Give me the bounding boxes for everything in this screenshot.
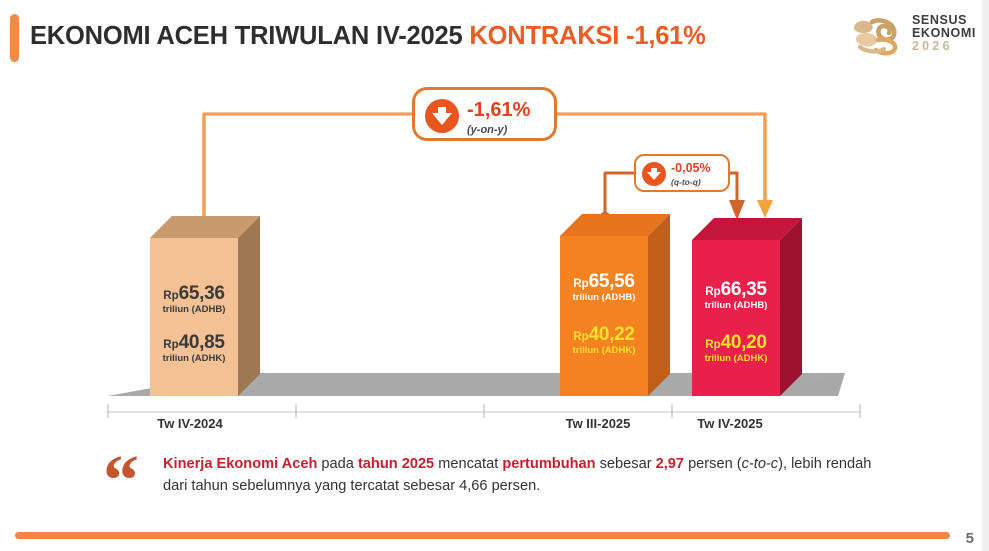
logo-text: SENSUS EKONOMI 2026 [912,14,976,52]
quote-text: Kinerja Ekonomi Aceh pada tahun 2025 men… [163,454,883,497]
header: EKONOMI ACEH TRIWULAN IV-2025 KONTRAKSI … [0,0,989,78]
quote-seg-2: pada [317,456,358,472]
logo-line-1: SENSUS [912,14,976,27]
title-accent-bar [10,14,19,62]
page-title: EKONOMI ACEH TRIWULAN IV-2025 KONTRAKSI … [30,22,706,51]
axis-label-tw-iv-2024: Tw IV-2024 [120,416,260,431]
page-title-main: EKONOMI ACEH TRIWULAN IV-2025 [30,22,462,50]
axis-label-tw-iv-2025: Tw IV-2025 [660,416,800,431]
quote-seg-9: c-to-c [742,456,778,472]
logo-line-2: EKONOMI [912,27,976,40]
chart-axis-ticks [0,78,989,438]
logo: SENSUS EKONOMI 2026 [848,12,980,60]
page-title-highlight: KONTRAKSI -1,61% [469,22,705,50]
axis-label-tw-iii-2025: Tw III-2025 [528,416,668,431]
quote-seg-5: pertumbuhan [502,456,595,472]
quote-mark-icon: “ [103,444,139,516]
quote-seg-1: Kinerja Ekonomi Aceh [163,456,317,472]
page-number: 5 [966,530,974,547]
quote-seg-3: tahun 2025 [358,456,434,472]
footer-accent-bar [15,532,950,539]
sensus-ekonomi-ribbon-logo-icon [848,14,910,58]
chart-stage: -1,61% (y-on-y) -0,05% (q-to-q) Rp65,36 … [0,78,989,438]
quote-seg-8: persen ( [684,456,742,472]
logo-line-3: 2026 [912,40,976,53]
quote-seg-4: mencatat [434,456,502,472]
quote-block: “ Kinerja Ekonomi Aceh pada tahun 2025 m… [0,440,989,510]
quote-seg-6: sebesar [596,456,656,472]
quote-seg-7: 2,97 [656,456,684,472]
